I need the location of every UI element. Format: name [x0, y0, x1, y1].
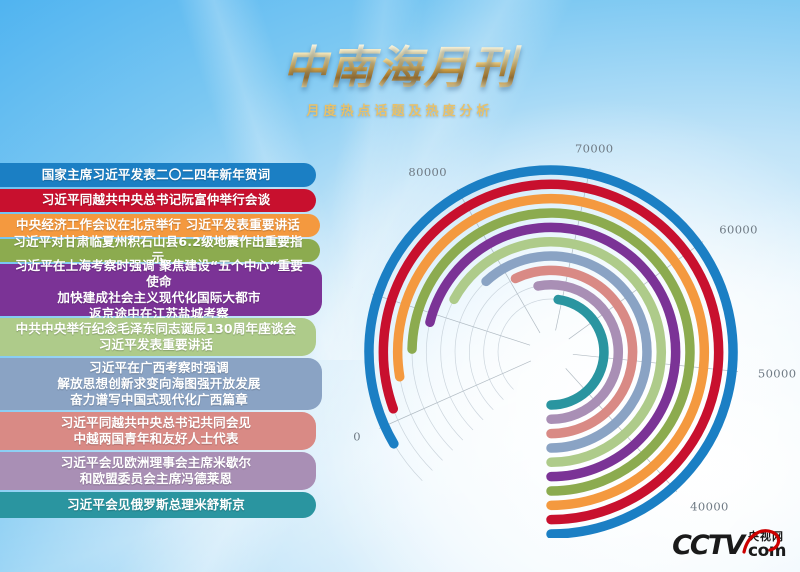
list-item-label: 习近平在上海考察时强调 聚焦建设“五个中心”重要使命 加快建成社会主义现代化国际… [10, 258, 308, 322]
chart-bar-track [412, 349, 453, 450]
list-item[interactable]: 习近平在广西考察时强调 解放思想创新求变向海图强开放发展 奋力谱写中国式现代化广… [0, 358, 322, 410]
chart-bar-track [455, 281, 486, 419]
radial-bar-chart-svg: 400005000060000700008000090000100000 [352, 138, 800, 538]
chart-bar-track [484, 286, 538, 400]
list-item[interactable]: 国家主席习近平发表二〇二四年新年贺词 [0, 163, 316, 187]
cctv-logo: CCTV 央视网 com [672, 531, 786, 560]
list-item[interactable]: 习近平同越共中央总书记共同会见 中越两国青年和友好人士代表 [0, 412, 316, 450]
infographic-canvas: 中南海月刊 月度热点话题及热度分析 国家主席习近平发表二〇二四年新年贺词习近平同… [0, 0, 800, 572]
header: 中南海月刊 月度热点话题及热度分析 [0, 44, 800, 119]
chart-tick-label: 80000 [408, 165, 447, 179]
chart-tick-label: 40000 [690, 500, 729, 514]
chart-tick-label: 100000 [352, 430, 361, 444]
chart-bar-track [393, 409, 432, 471]
list-item[interactable]: 习近平同越共中央总书记阮富仲举行会谈 [0, 189, 316, 212]
list-item[interactable]: 习近平会见欧洲理事会主席米歇尔 和欧盟委员会主席冯德莱恩 [0, 452, 316, 490]
list-item-label: 习近平会见俄罗斯总理米舒斯京 [10, 497, 302, 513]
cctv-wordmark: CCTV [672, 532, 743, 559]
chart-bar[interactable] [430, 227, 676, 476]
topic-list: 国家主席习近平发表二〇二四年新年贺词习近平同越共中央总书记阮富仲举行会谈中央经济… [0, 163, 324, 520]
chart-bars [369, 170, 733, 534]
list-item-label: 中央经济工作会议在北京举行 习近平发表重要讲话 [10, 217, 306, 233]
cctv-swoosh-icon [742, 528, 784, 554]
chart-bar-track [469, 279, 515, 410]
chart-bar-track [394, 444, 422, 481]
list-item-label: 习近平在广西考察时强调 解放思想创新求变向海图强开放发展 奋力谱写中国式现代化广… [10, 360, 308, 408]
list-item[interactable]: 中共中央举行纪念毛泽东同志诞辰130周年座谈会 习近平发表重要讲话 [0, 318, 316, 356]
chart-bar-track [400, 377, 443, 461]
chart-bar[interactable] [383, 184, 718, 519]
list-item[interactable]: 习近平在上海考察时强调 聚焦建设“五个中心”重要使命 加快建成社会主义现代化国际… [0, 264, 322, 316]
chart-tick-label: 60000 [719, 223, 758, 237]
page-title: 中南海月刊 [0, 44, 800, 91]
radial-bar-chart: 400005000060000700008000090000100000 [352, 138, 800, 538]
chart-tick-label: 90000 [352, 281, 353, 295]
list-item-label: 中共中央举行纪念毛泽东同志诞辰130周年座谈会 习近平发表重要讲话 [10, 321, 302, 353]
list-item-label: 习近平会见欧洲理事会主席米歇尔 和欧盟委员会主席冯德莱恩 [10, 455, 302, 487]
chart-bar-track [441, 299, 473, 430]
list-item-label: 习近平同越共中央总书记共同会见 中越两国青年和友好人士代表 [10, 415, 302, 447]
page-subtitle: 月度热点话题及热度分析 [0, 100, 800, 119]
chart-tick-label: 70000 [575, 142, 614, 156]
list-item-label: 国家主席习近平发表二〇二四年新年贺词 [10, 167, 302, 183]
list-item[interactable]: 习近平会见俄罗斯总理米舒斯京 [0, 492, 316, 518]
list-item-label: 习近平同越共中央总书记阮富仲举行会谈 [10, 192, 302, 208]
chart-tick-label: 50000 [758, 367, 797, 381]
